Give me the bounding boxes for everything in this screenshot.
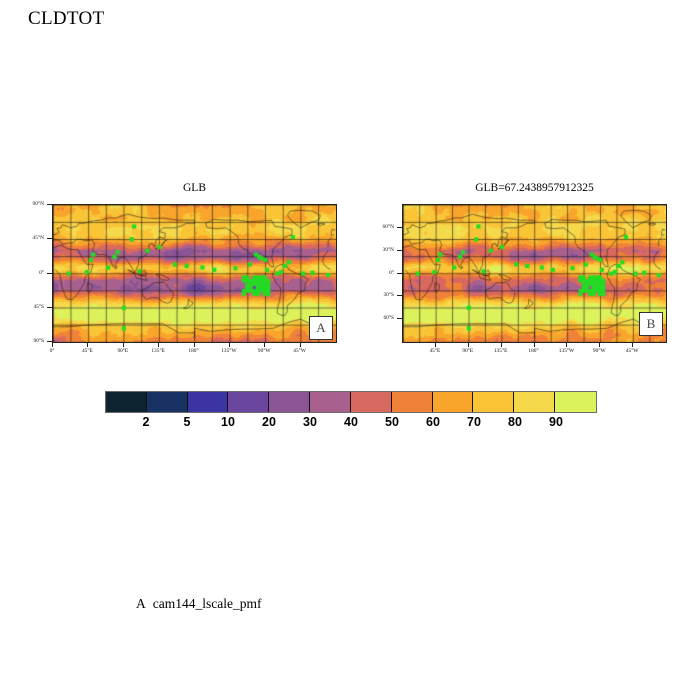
lat-tick [397,318,402,319]
map-panel-a: GLB A 90°N45°N0°45°S90°S0°45°E90°E135°E1… [52,182,337,362]
lat-label: 60°N [368,224,394,230]
colorbar-tick-30: 30 [303,415,317,429]
lat-tick [397,250,402,251]
colorbar-segment-8 [433,392,474,412]
lon-label: 45°W [293,348,306,354]
colorbar-segment-11 [555,392,596,412]
colorbar-tick-80: 80 [508,415,522,429]
lat-label: 90°S [18,338,44,344]
colorbar-segment-6 [351,392,392,412]
lat-tick [47,307,52,308]
map-panel-b: GLB=67.2438957912325 B 60°N30°N0°30°S60°… [402,182,667,362]
lon-tick [52,342,53,347]
lat-tick [397,273,402,274]
page-title: CLDTOT [28,8,104,30]
panel-b-map-canvas [403,205,666,342]
lon-label: 45°E [429,348,440,354]
colorbar-segment-5 [310,392,351,412]
lon-tick [158,342,159,347]
lon-label: 180° [188,348,198,354]
lon-tick [87,342,88,347]
colorbar-tick-70: 70 [467,415,481,429]
lon-tick [599,342,600,347]
lon-tick [468,342,469,347]
lat-label: 45°N [18,235,44,241]
colorbar-tick-2: 2 [143,415,150,429]
lon-label: 90°W [258,348,271,354]
colorbar-segment-7 [392,392,433,412]
colorbar-strip [105,391,597,413]
lon-tick [501,342,502,347]
lat-tick [397,227,402,228]
lat-tick [47,238,52,239]
colorbar-segment-3 [228,392,269,412]
lat-label: 30°N [368,247,394,253]
lon-tick [264,342,265,347]
colorbar: 25102030405060708090 [105,391,597,436]
colorbar-segment-10 [514,392,555,412]
panel-a-map-canvas [53,205,336,342]
colorbar-tick-60: 60 [426,415,440,429]
lat-label: 0° [368,270,394,276]
colorbar-segment-9 [473,392,514,412]
lon-label: 135°W [221,348,236,354]
lat-label: 0° [18,270,44,276]
lon-tick [632,342,633,347]
colorbar-tick-5: 5 [184,415,191,429]
panel-b-corner-label: B [639,312,663,336]
lat-label: 90°N [18,201,44,207]
lat-label: 45°S [18,304,44,310]
colorbar-tick-10: 10 [221,415,235,429]
lon-tick [229,342,230,347]
lon-label: 90°E [117,348,128,354]
colorbar-segment-4 [269,392,310,412]
panel-a-title: GLB [52,182,337,194]
lat-tick [47,273,52,274]
colorbar-tick-20: 20 [262,415,276,429]
lon-label: 90°W [593,348,606,354]
lon-tick [194,342,195,347]
lat-tick [397,295,402,296]
colorbar-tick-90: 90 [549,415,563,429]
panel-a-map[interactable] [52,204,337,343]
caption-text: cam144_lscale_pmf [153,596,262,611]
colorbar-segment-0 [106,392,147,412]
panel-a-corner-label: A [309,316,333,340]
lat-label: 30°S [368,292,394,298]
panel-b-map[interactable] [402,204,667,343]
caption-letter: A [136,596,146,611]
colorbar-tick-50: 50 [385,415,399,429]
lat-tick [47,204,52,205]
lon-label: 135°E [151,348,165,354]
panel-b-title: GLB=67.2438957912325 [402,182,667,194]
lon-label: 45°W [626,348,639,354]
lon-tick [300,342,301,347]
figure-caption: Acam144_lscale_pmf [136,596,261,612]
colorbar-tick-40: 40 [344,415,358,429]
lon-label: 180° [528,348,538,354]
lon-tick [123,342,124,347]
lon-tick [534,342,535,347]
lon-label: 90°E [462,348,473,354]
lon-label: 135°W [559,348,574,354]
lat-label: 60°S [368,315,394,321]
colorbar-segment-1 [147,392,188,412]
lon-label: 0° [50,348,55,354]
colorbar-segment-2 [188,392,229,412]
lon-tick [435,342,436,347]
lon-label: 45°E [82,348,93,354]
lon-label: 135°E [494,348,508,354]
lon-tick [566,342,567,347]
